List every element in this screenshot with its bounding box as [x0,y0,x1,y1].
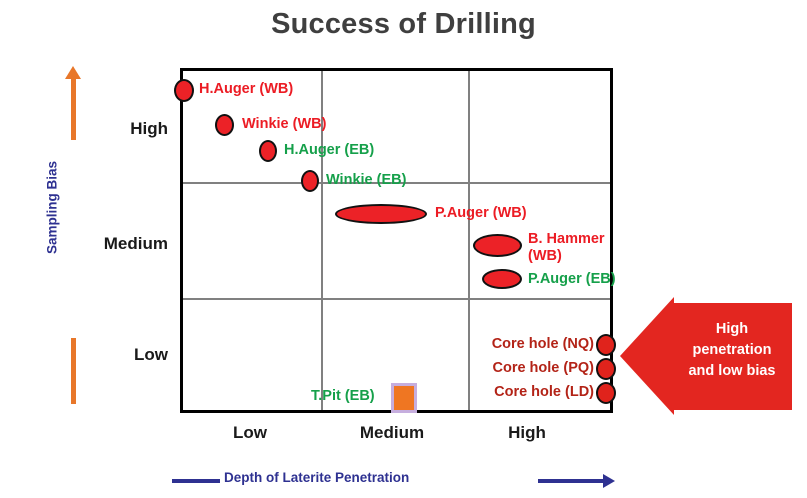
y-tick-high: High [0,119,168,139]
data-point-b-hammer-wb[interactable] [473,234,522,257]
x-axis-left-rule [172,479,220,483]
horizontal-gridline-2 [183,298,610,300]
y-tick-medium: Medium [0,234,168,254]
callout-arrowhead-icon [620,297,674,415]
data-label-core-hole-ld: Core hole (LD) [466,385,594,400]
data-label-p-auger-wb: P.Auger (WB) [435,206,527,221]
x-tick-medium: Medium [342,423,442,443]
data-label-winkie-eb: Winkie (EB) [326,173,406,188]
data-point-t-pit-eb[interactable] [391,383,417,413]
data-point-p-auger-wb[interactable] [335,204,427,224]
data-label-b-hammer-wb-line1: B. Hammer [528,232,605,247]
callout-line1: High [716,321,748,337]
data-label-b-hammer-wb-line2: (WB) [528,249,562,264]
data-label-winkie-wb: Winkie (WB) [242,117,326,132]
chart-canvas: Success of Drilling Sampling Bias High M… [0,0,807,498]
y-tick-low: Low [0,345,168,365]
data-label-core-hole-pq: Core hole (PQ) [466,361,594,376]
data-point-h-auger-wb[interactable] [174,79,194,102]
x-axis-title: Depth of Laterite Penetration [224,470,409,485]
data-label-h-auger-wb: H.Auger (WB) [199,82,293,97]
data-point-h-auger-eb[interactable] [259,140,277,162]
x-tick-high: High [477,423,577,443]
data-point-winkie-wb[interactable] [215,114,234,136]
data-point-winkie-eb[interactable] [301,170,319,192]
data-label-h-auger-eb: H.Auger (EB) [284,143,374,158]
data-label-core-hole-nq: Core hole (NQ) [466,337,594,352]
callout-line2: penetration [693,342,772,358]
data-label-t-pit-eb: T.Pit (EB) [311,389,375,404]
data-point-p-auger-eb[interactable] [482,269,522,289]
data-label-p-auger-eb: P.Auger (EB) [528,272,616,287]
data-point-core-hole-pq[interactable] [596,358,616,380]
plot-area: H.Auger (WB) Winkie (WB) H.Auger (EB) Wi… [180,68,613,413]
data-point-core-hole-ld[interactable] [596,382,616,404]
data-point-core-hole-nq[interactable] [596,334,616,356]
page-title: Success of Drilling [0,8,807,41]
callout-text: Highpenetrationand low bias [672,319,792,382]
callout-line3: and low bias [688,363,775,379]
x-axis-right-rule [538,479,604,483]
vertical-gridline-2 [468,71,470,410]
x-tick-low: Low [200,423,300,443]
callout-annotation: Highpenetrationand low bias [620,303,792,410]
x-axis-arrowhead-icon [603,474,615,488]
